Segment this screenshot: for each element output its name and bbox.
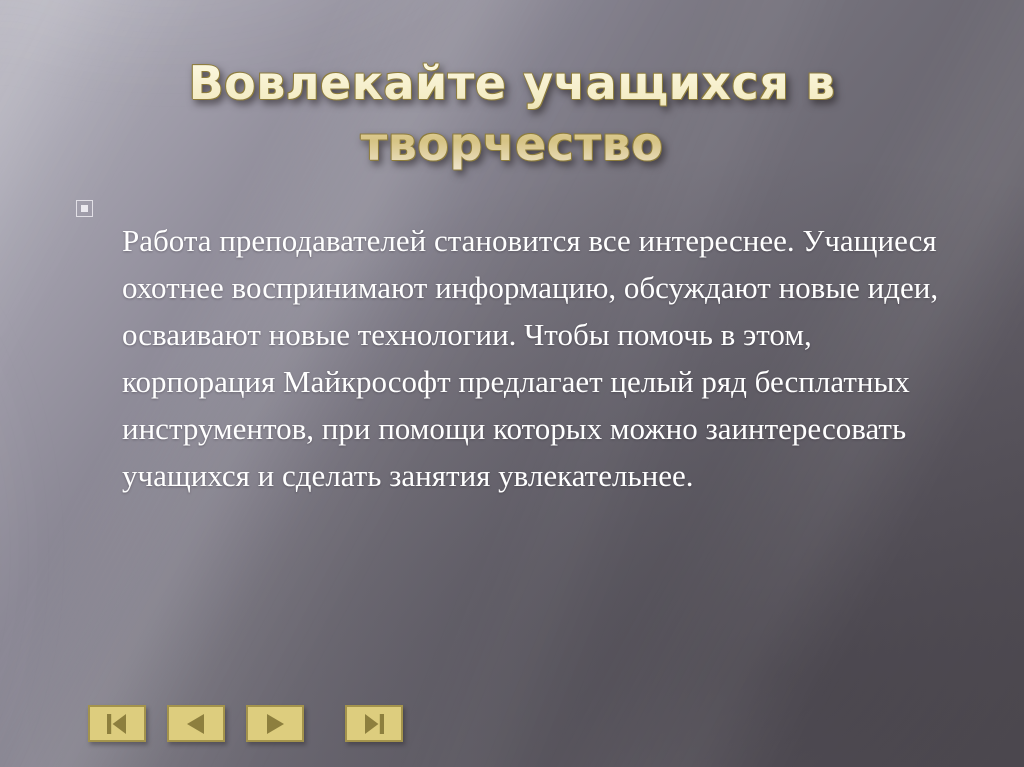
next-icon (263, 713, 287, 735)
body-paragraph: Работа преподавателей становится все инт… (122, 217, 964, 499)
next-slide-button[interactable] (246, 705, 304, 742)
previous-icon (184, 713, 208, 735)
previous-slide-button[interactable] (167, 705, 225, 742)
presentation-slide: Вовлекайте учащихся в творчество Работа … (0, 0, 1024, 767)
square-bullet-icon (76, 200, 93, 217)
page-title: Вовлекайте учащихся в творчество (60, 53, 964, 175)
skip-to-start-icon (105, 713, 129, 735)
skip-to-end-icon (362, 713, 386, 735)
slide-navigation-bar (88, 705, 403, 742)
first-slide-button[interactable] (88, 705, 146, 742)
body-content-block: Работа преподавателей становится все инт… (76, 186, 984, 530)
last-slide-button[interactable] (345, 705, 403, 742)
